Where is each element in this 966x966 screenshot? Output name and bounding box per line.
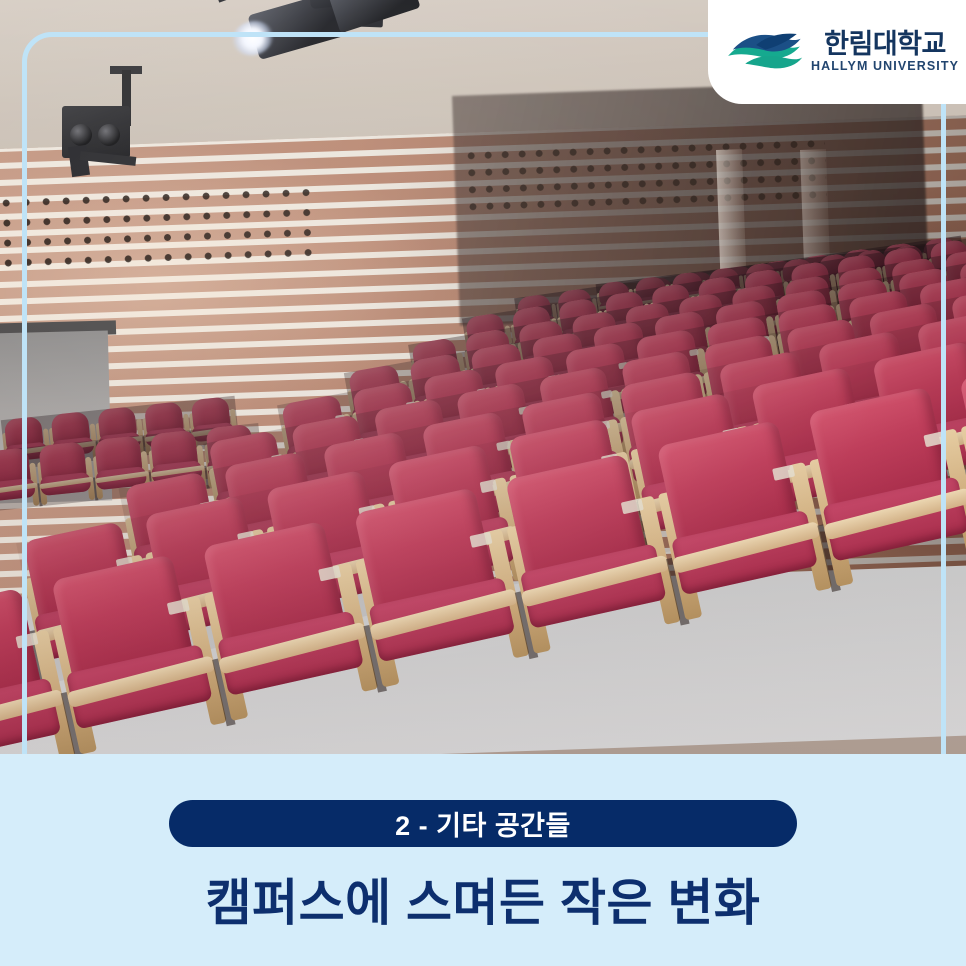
logo-name-en: HALLYM UNIVERSITY xyxy=(811,58,959,74)
auditorium-seat xyxy=(799,383,966,591)
wave-swoosh-icon xyxy=(725,26,803,78)
headline-text: 캠퍼스에 스며든 작은 변화 xyxy=(206,863,761,935)
university-logo-badge: 한림대학교 HALLYM UNIVERSITY xyxy=(708,0,966,104)
section-badge: 2 - 기타 공간들 xyxy=(169,800,797,847)
logo-name-kr: 한림대학교 xyxy=(824,30,946,58)
auditorium-seat xyxy=(0,447,40,512)
auditorium-photo xyxy=(0,0,966,754)
seat-rows xyxy=(0,0,966,754)
logo-wordmark: 한림대학교 HALLYM UNIVERSITY xyxy=(811,30,959,75)
auditorium-seat xyxy=(35,441,95,506)
promo-card: 한림대학교 HALLYM UNIVERSITY 2 - 기타 공간들 캠퍼스에 … xyxy=(0,0,966,966)
caption-area: 2 - 기타 공간들 캠퍼스에 스며든 작은 변화 xyxy=(0,754,966,966)
